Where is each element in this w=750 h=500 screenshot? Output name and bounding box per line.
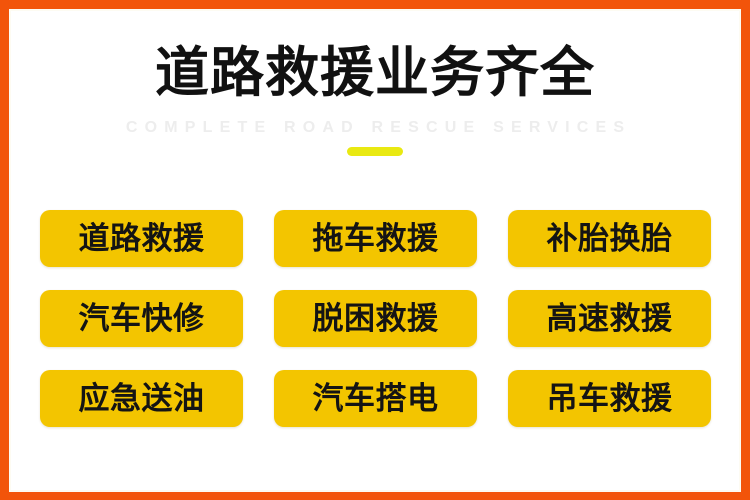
service-button-quick-auto-repair[interactable]: 汽车快修 <box>40 290 243 347</box>
service-button-highway-rescue[interactable]: 高速救援 <box>508 290 711 347</box>
service-button-label: 吊车救援 <box>547 382 673 416</box>
service-button-crane-rescue[interactable]: 吊车救援 <box>508 370 711 427</box>
service-button-jump-start[interactable]: 汽车搭电 <box>274 370 477 427</box>
service-button-label: 脱困救援 <box>313 302 439 336</box>
service-button-emergency-fuel-delivery[interactable]: 应急送油 <box>40 370 243 427</box>
service-button-label: 拖车救援 <box>313 222 439 256</box>
page-title: 道路救援业务齐全 <box>11 44 739 102</box>
poster-canvas: 道路救援业务齐全 COMPLETE ROAD RESCUE SERVICES 道… <box>11 11 739 490</box>
service-button-label: 高速救援 <box>547 302 673 336</box>
service-button-extrication-rescue[interactable]: 脱困救援 <box>274 290 477 347</box>
title-accent-bar <box>347 147 403 156</box>
service-button-tire-repair-replacement[interactable]: 补胎换胎 <box>508 210 711 267</box>
service-button-label: 汽车搭电 <box>313 382 439 416</box>
service-button-label: 补胎换胎 <box>547 222 673 256</box>
service-button-towing-rescue[interactable]: 拖车救援 <box>274 210 477 267</box>
poster-frame: 道路救援业务齐全 COMPLETE ROAD RESCUE SERVICES 道… <box>0 0 750 500</box>
page-subtitle: COMPLETE ROAD RESCUE SERVICES <box>11 118 739 138</box>
service-button-road-rescue[interactable]: 道路救援 <box>40 210 243 267</box>
service-button-grid: 道路救援 拖车救援 补胎换胎 汽车快修 脱困救援 高速救援 应急送油 汽车搭电 <box>40 210 711 427</box>
service-button-label: 道路救援 <box>79 222 205 256</box>
service-button-label: 应急送油 <box>79 382 205 416</box>
service-button-label: 汽车快修 <box>79 302 205 336</box>
